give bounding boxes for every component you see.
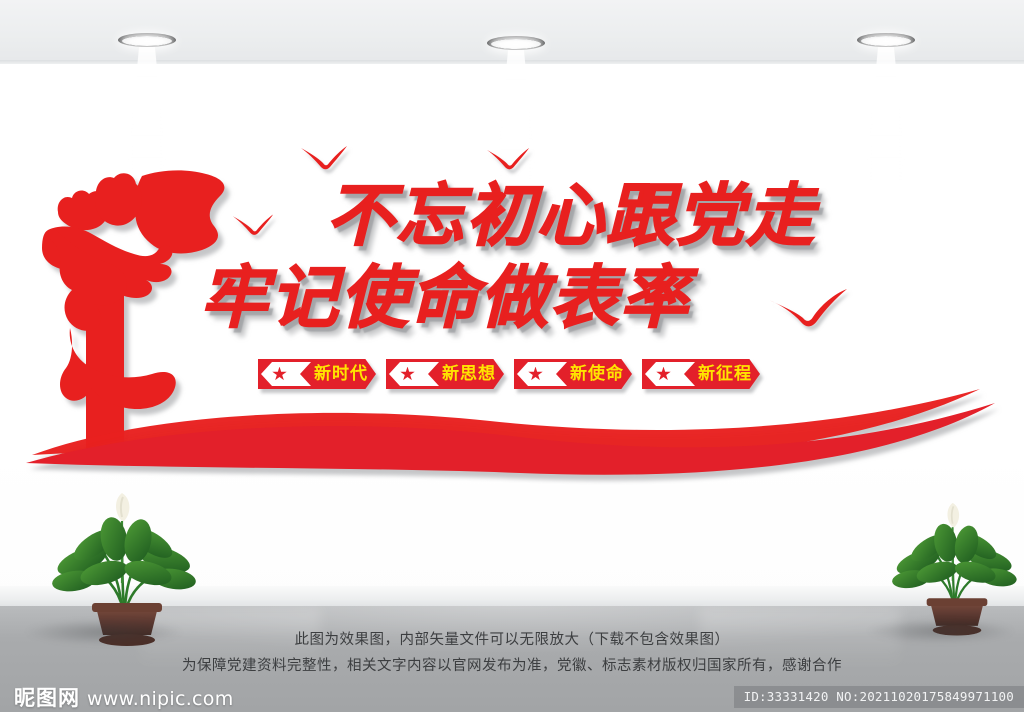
caption-line-2: 为保障党建资料完整性，相关文字内容以官网发布为准，党徽、标志素材版权归国家所有，…: [0, 654, 1024, 675]
ceiling-light-right: [857, 33, 915, 47]
wave-ribbons: [20, 385, 1005, 480]
wall-mockup-scene: 不忘初心跟党走 牢记使命做表率 新时代 新思想 新使命 新征程: [0, 0, 1024, 712]
wave-front: [26, 403, 995, 475]
headline-line-1: 不忘初心跟党走: [326, 180, 816, 254]
lamp-bulb-icon: [861, 36, 911, 46]
torch-flame-icon: [96, 173, 142, 225]
asset-id-strip: ID:33331420 NO:20211020175849971100: [734, 686, 1024, 708]
ceiling-light-left: [118, 33, 176, 47]
caption-line-1: 此图为效果图，内部矢量文件可以无限放大（下载不包含效果图）: [0, 628, 1024, 649]
lamp-bulb-icon: [122, 36, 172, 46]
headline-line-2: 牢记使命做表率: [200, 262, 690, 336]
watermark-site-url: www.nipic.com: [87, 688, 234, 710]
bird-1: [300, 146, 348, 175]
watermark: 昵图网 www.nipic.com: [14, 682, 234, 712]
ceiling-light-center: [487, 36, 545, 50]
watermark-site-name: 昵图网: [14, 682, 80, 712]
lamp-bulb-icon: [491, 39, 541, 49]
bird-3: [486, 148, 530, 175]
headline-block: 不忘初心跟党走 牢记使命做表率: [190, 180, 870, 345]
